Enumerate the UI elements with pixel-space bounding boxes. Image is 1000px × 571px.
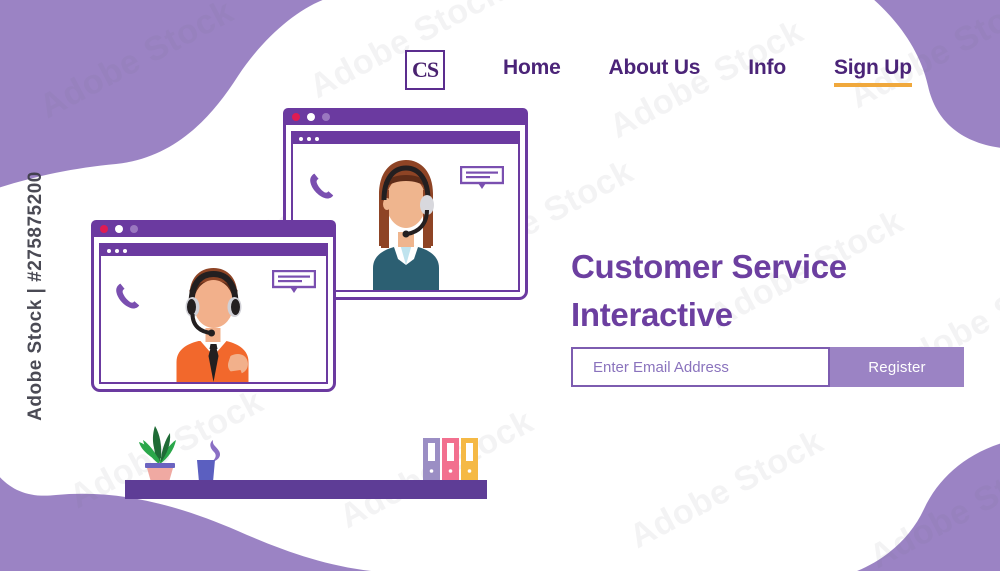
coffee-cup-icon [187, 436, 227, 482]
watermark-tile: Adobe Stock [623, 422, 830, 557]
landing-page-canvas: Adobe Stock Adobe Stock Adobe Stock Adob… [0, 0, 1000, 571]
phone-handset-icon [115, 282, 141, 310]
male-support-agent-illustration [156, 260, 271, 382]
hero-section: Customer Service Interactive [571, 243, 976, 339]
potted-plant-icon [133, 420, 185, 482]
phone-handset-icon [309, 172, 335, 200]
window-maximize-dot[interactable] [322, 113, 330, 121]
inner-dot [123, 249, 127, 253]
logo-cs[interactable]: CS [405, 50, 445, 90]
register-button[interactable]: Register [830, 347, 964, 387]
stock-watermark-label: Adobe Stock | #275875200 [25, 156, 47, 436]
email-input[interactable] [571, 347, 830, 387]
window-maximize-dot[interactable] [130, 225, 138, 233]
window-frame-inner [99, 243, 328, 384]
nav-link-sign-up[interactable]: Sign Up [834, 57, 912, 87]
window-titlebar-inner [293, 133, 518, 144]
nav-link-about-us[interactable]: About Us [609, 57, 701, 87]
inner-dot [307, 137, 311, 141]
window-titlebar-outer [283, 108, 528, 125]
window-titlebar-inner [101, 245, 326, 256]
binders-icon [421, 438, 481, 482]
inner-dot [107, 249, 111, 253]
chat-bubble-icon [272, 270, 316, 294]
nav-link-home[interactable]: Home [503, 57, 561, 87]
wall-shelf [125, 480, 487, 499]
headline-line-2: Interactive [571, 291, 976, 339]
signup-form: Register [571, 347, 964, 387]
inner-dot [115, 249, 119, 253]
window-minimize-dot[interactable] [115, 225, 123, 233]
watermark-tile: Adobe Stock [863, 442, 1000, 571]
shelf-objects-group [125, 420, 495, 482]
inner-dot [315, 137, 319, 141]
decorative-blob-bottom-right [822, 443, 1000, 571]
chat-bubble-icon [460, 166, 504, 190]
window-close-dot[interactable] [100, 225, 108, 233]
nav-link-info[interactable]: Info [748, 57, 786, 87]
browser-window-male-agent[interactable] [91, 220, 336, 392]
inner-dot [299, 137, 303, 141]
window-screen [101, 256, 326, 382]
page-title: Customer Service Interactive [571, 243, 976, 339]
logo-label: CS [412, 59, 438, 81]
window-close-dot[interactable] [292, 113, 300, 121]
headline-line-1: Customer Service [571, 243, 976, 291]
window-titlebar-outer [91, 220, 336, 237]
female-support-agent-illustration [351, 150, 461, 290]
main-navigation: CS Home About Us Info Sign Up [0, 48, 1000, 100]
window-minimize-dot[interactable] [307, 113, 315, 121]
